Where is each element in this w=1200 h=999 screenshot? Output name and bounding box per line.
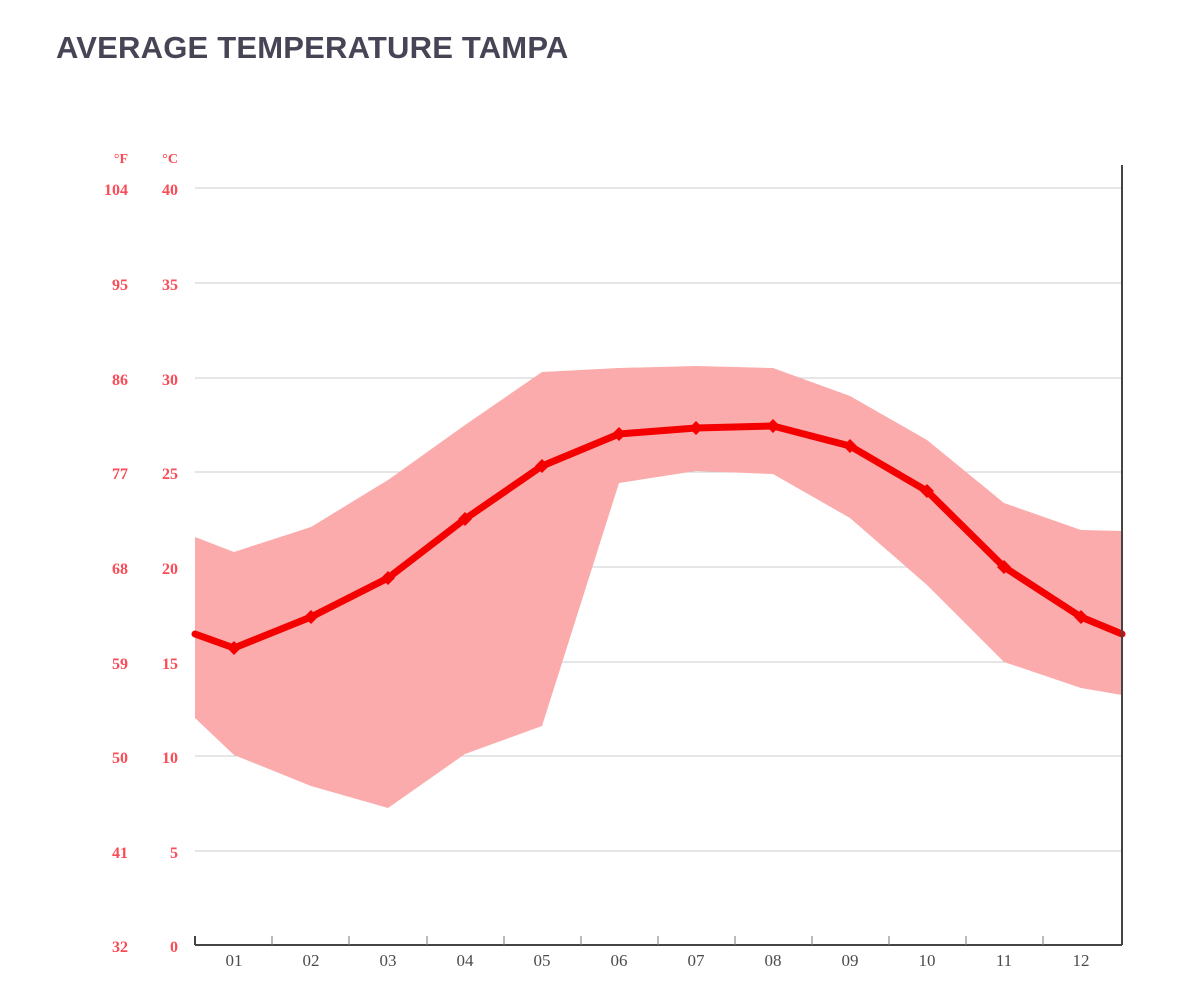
ylabel-f-95: 95: [112, 277, 128, 294]
temperature-chart-card: AVERAGE TEMPERATURE TAMPA: [0, 0, 1200, 999]
ylabel-c-40: 40: [162, 182, 178, 199]
xlabel-03: 03: [380, 951, 397, 970]
ylabel-f-41: 41: [112, 845, 128, 862]
ylabel-f-50: 50: [112, 750, 128, 767]
ylabel-c-5: 5: [170, 845, 178, 862]
y-axis-unit-headers: °F °C: [114, 152, 178, 167]
plot-area: °F °C 104 95 86 77 68 59 50 41 32 40 35 …: [0, 0, 1200, 999]
xlabel-05: 05: [534, 951, 551, 970]
x-axis-labels: 01 02 03 04 05 06 07 08 09 10 11 12: [226, 951, 1090, 970]
xlabel-07: 07: [688, 951, 706, 970]
ylabel-f-68: 68: [112, 561, 128, 578]
ylabel-c-10: 10: [162, 750, 178, 767]
xlabel-11: 11: [996, 951, 1012, 970]
ylabel-f-32: 32: [112, 939, 128, 956]
ylabel-f-59: 59: [112, 656, 128, 673]
ylabel-c-20: 20: [162, 561, 178, 578]
xlabel-02: 02: [303, 951, 320, 970]
ylabel-c-35: 35: [162, 277, 178, 294]
y-axis-fahrenheit-unit: °F: [114, 152, 128, 167]
xlabel-10: 10: [919, 951, 936, 970]
xlabel-12: 12: [1073, 951, 1090, 970]
y-axis-fahrenheit-labels: 104 95 86 77 68 59 50 41 32: [104, 182, 128, 956]
xlabel-01: 01: [226, 951, 243, 970]
y-axis-celsius-labels: 40 35 30 25 20 15 10 5 0: [162, 182, 178, 956]
ylabel-c-0: 0: [170, 939, 178, 956]
temperature-plot-svg: °F °C 104 95 86 77 68 59 50 41 32 40 35 …: [0, 0, 1200, 999]
y-axis-celsius-unit: °C: [162, 152, 178, 167]
ylabel-c-30: 30: [162, 372, 178, 389]
ylabel-c-15: 15: [162, 656, 178, 673]
x-axis-tickmarks: [272, 936, 1043, 945]
ylabel-f-104: 104: [104, 182, 128, 199]
ylabel-f-77: 77: [112, 466, 128, 483]
xlabel-09: 09: [842, 951, 859, 970]
xlabel-06: 06: [611, 951, 628, 970]
xlabel-08: 08: [765, 951, 782, 970]
ylabel-f-86: 86: [112, 372, 128, 389]
ylabel-c-25: 25: [162, 466, 178, 483]
xlabel-04: 04: [457, 951, 475, 970]
